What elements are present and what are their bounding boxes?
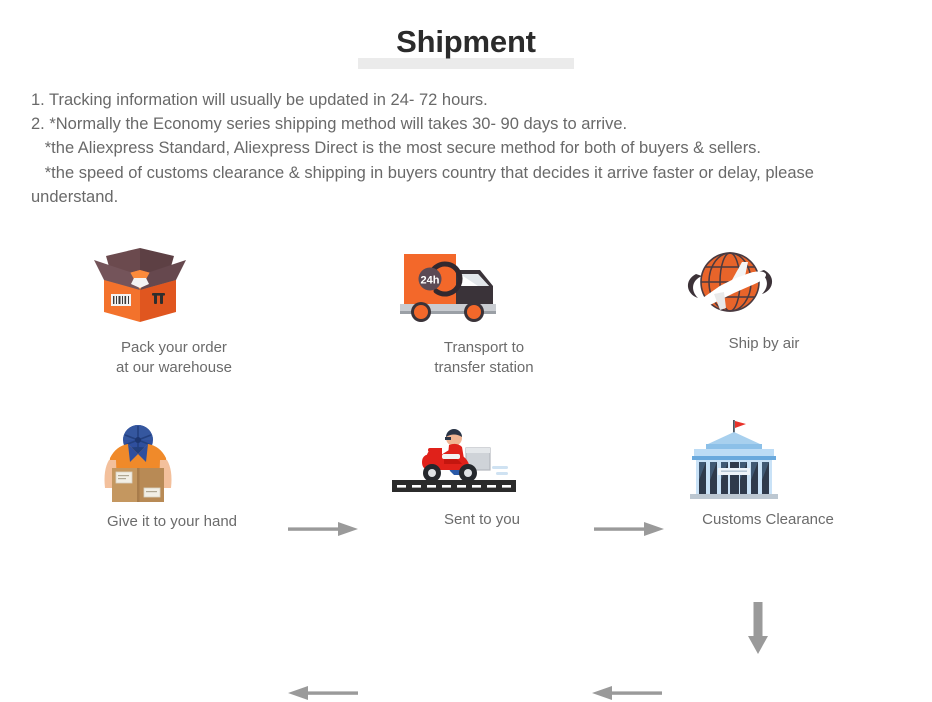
flow-step-air: Ship by air	[674, 236, 854, 354]
note-line-2: 2. *Normally the Economy series shipping…	[31, 112, 901, 136]
truck-badge-label: 24h	[421, 275, 440, 287]
shipment-infographic-page: { "header": { "title": "Shipment", "unde…	[0, 0, 932, 540]
flow-step-customs-caption: Customs Clearance	[678, 510, 858, 530]
flow-step-transport: 24h Transport to transfer station	[394, 236, 574, 378]
flow-step-sent: Sent to you	[392, 418, 572, 530]
shipping-process-flow: Pack your order at our warehouse	[0, 232, 932, 540]
flow-step-pack: Pack your order at our warehouse	[84, 236, 264, 378]
arrow-pack-to-transport-icon	[288, 520, 358, 538]
arrow-transport-to-air-icon	[594, 520, 664, 538]
shipment-notes: 1. Tracking information will usually be …	[31, 88, 901, 209]
note-line-1: 1. Tracking information will usually be …	[31, 88, 901, 112]
note-line-3: *the Aliexpress Standard, Aliexpress Dir…	[31, 136, 901, 160]
delivery-truck-icon: 24h	[394, 236, 574, 332]
customs-building-icon	[678, 418, 858, 504]
flow-step-sent-caption: Sent to you	[392, 510, 572, 530]
note-line-4: *the speed of customs clearance & shippi…	[31, 161, 901, 209]
open-box-icon	[84, 236, 264, 332]
flow-step-customs: Customs Clearance	[678, 418, 858, 530]
courier-handing-parcel-icon	[82, 414, 262, 506]
page-title-block: Shipment	[0, 26, 932, 57]
flow-step-pack-caption: Pack your order at our warehouse	[84, 338, 264, 378]
flow-step-hand-caption: Give it to your hand	[82, 512, 262, 532]
flow-step-transport-caption: Transport to transfer station	[394, 338, 574, 378]
arrow-customs-to-sent-icon	[592, 684, 662, 702]
arrow-air-to-customs-icon	[746, 602, 770, 656]
page-title: Shipment	[390, 24, 542, 59]
title-underline-bar	[358, 58, 574, 69]
arrow-sent-to-hand-icon	[288, 684, 358, 702]
scooter-courier-icon	[392, 418, 572, 504]
flow-step-air-caption: Ship by air	[674, 334, 854, 354]
globe-airplane-icon	[674, 236, 854, 328]
flow-step-hand: Give it to your hand	[82, 414, 262, 532]
